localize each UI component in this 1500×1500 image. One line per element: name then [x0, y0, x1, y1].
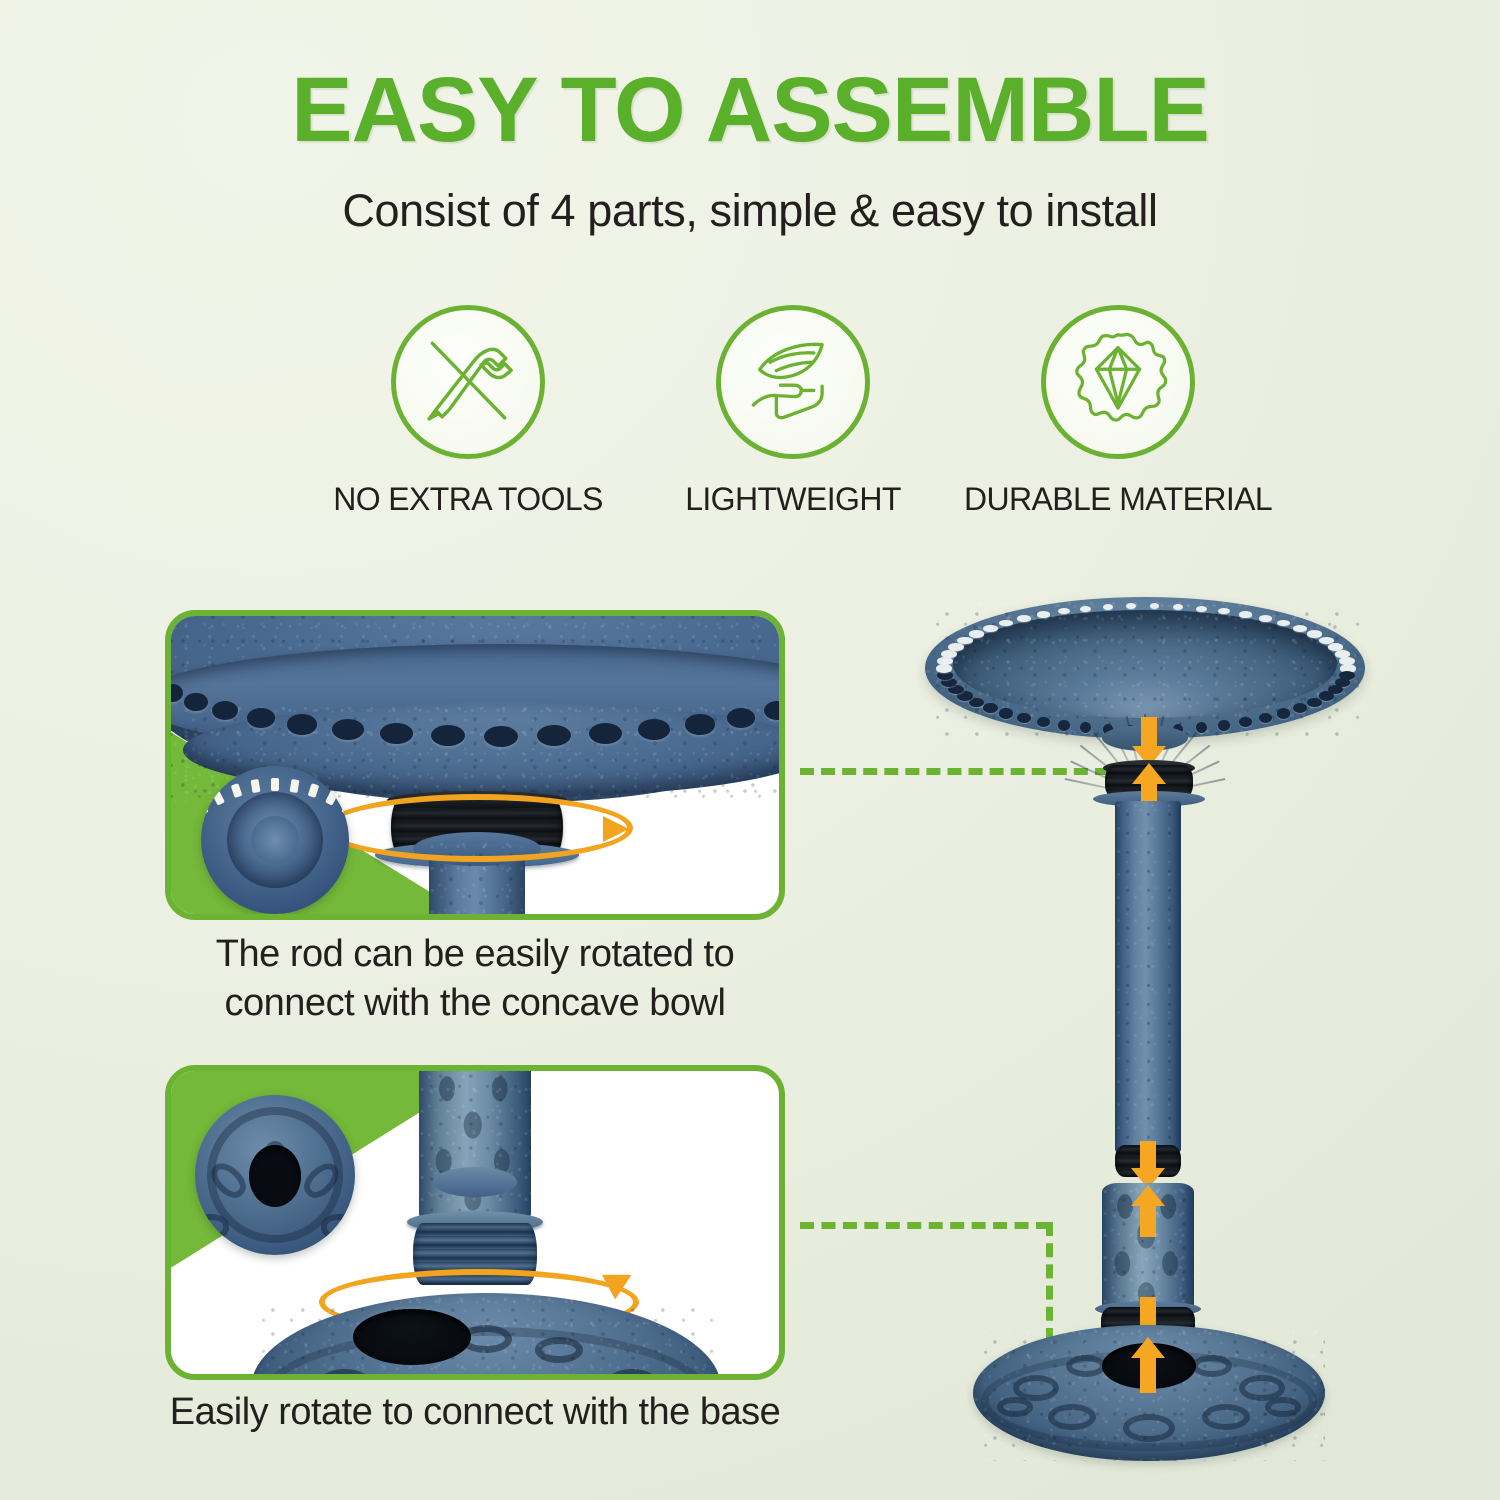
assembly-part-upper-pole	[1115, 801, 1181, 1153]
page-headline: EASY TO ASSEMBLE	[0, 62, 1500, 159]
badge-ring	[1041, 305, 1195, 459]
page-subheadline: Consist of 4 parts, simple & easy to ins…	[0, 185, 1500, 237]
base-connection-caption: Easily rotate to connect with the base	[165, 1388, 785, 1437]
badge-label: LIGHTWEIGHT	[685, 481, 901, 518]
insertion-arrow-base-up	[1131, 1337, 1165, 1393]
feature-badge-no-extra-tools: NO EXTRA TOOLS	[333, 305, 603, 518]
bird-bath-exploded-assembly	[925, 585, 1375, 1465]
inset-bowl-top-view	[201, 766, 349, 914]
feature-badge-durable-material: DURABLE MATERIAL	[983, 305, 1253, 518]
base-connection-panel	[165, 1065, 785, 1380]
bowl-connection-caption: The rod can be easily rotated to connect…	[165, 930, 785, 1027]
insertion-arrow-pole-down	[1131, 1141, 1165, 1189]
ornate-finial-connector	[419, 1071, 531, 1224]
hand-holding-feather-icon	[741, 328, 845, 437]
rotate-arrowhead	[603, 816, 629, 842]
badge-ring	[391, 305, 545, 459]
crossed-hammer-screwdriver-icon	[414, 326, 522, 439]
feature-badge-row: NO EXTRA TOOLS LIGHTWEIGHT	[355, 305, 1225, 535]
base-center-hole	[353, 1309, 471, 1365]
ornate-round-base	[251, 1293, 721, 1374]
badge-label: NO EXTRA TOOLS	[333, 481, 603, 518]
finial-waist	[433, 1167, 517, 1197]
insertion-arrow-finial-up	[1131, 1185, 1165, 1237]
clockwise-rotate-arrow	[323, 794, 633, 862]
panel-image-area	[171, 616, 779, 914]
inset-base-top-view	[195, 1095, 355, 1255]
bowl-connection-panel	[165, 610, 785, 920]
panel-image-area	[171, 1071, 779, 1374]
feature-badge-lightweight: LIGHTWEIGHT	[658, 305, 928, 518]
badge-ring	[716, 305, 870, 459]
badge-label: DURABLE MATERIAL	[964, 481, 1272, 518]
diamond-seal-icon	[1064, 326, 1172, 439]
